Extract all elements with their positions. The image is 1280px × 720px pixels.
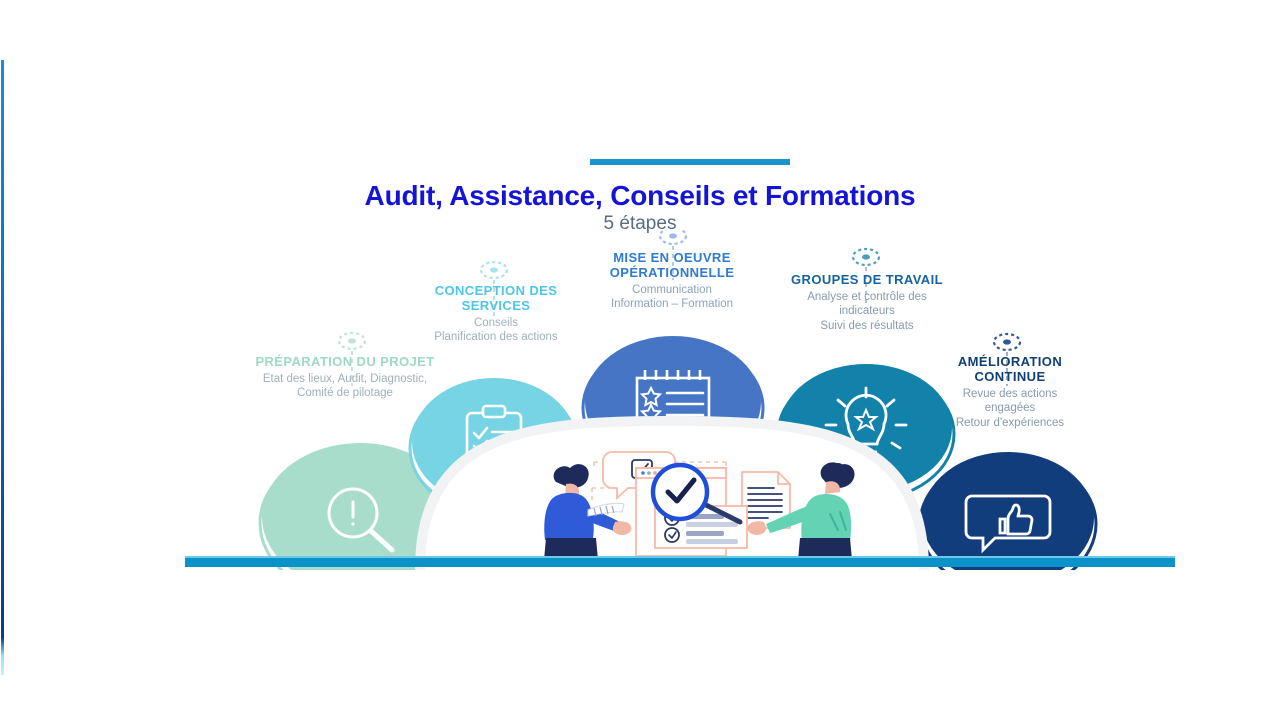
step-4-desc-line-2: indicateurs	[772, 304, 962, 318]
step-label-1: PRÉPARATION DU PROJET Etat des lieux, Au…	[255, 355, 435, 401]
step-5-desc: Revue des actions engagées Retour d'expé…	[925, 387, 1095, 430]
step-2-desc-line-2: Planification des actions	[400, 330, 592, 344]
step-5-title: AMÉLIORATION CONTINUE	[925, 355, 1095, 385]
step-3-desc: Communication Information – Formation	[572, 283, 772, 312]
step-5-desc-line-2: engagées	[925, 401, 1095, 415]
step-2-title: CONCEPTION DES SERVICES	[400, 284, 592, 314]
left-edge-accent-stripe-tail	[1, 655, 4, 675]
step-label-2: CONCEPTION DES SERVICES Conseils Planifi…	[400, 284, 592, 345]
page-title: Audit, Assistance, Conseils et Formation…	[0, 180, 1280, 212]
step-4-desc-line-1: Analyse et contrôle des	[772, 290, 962, 304]
title-underline-rule	[590, 159, 790, 165]
step-1-desc: Etat des lieux, Audit, Diagnostic, Comit…	[255, 372, 435, 401]
step-label-5: AMÉLIORATION CONTINUE Revue des actions …	[925, 355, 1095, 430]
step-5-desc-line-3: Retour d'expériences	[925, 416, 1095, 430]
step-4-desc: Analyse et contrôle des indicateurs Suiv…	[772, 290, 962, 333]
step-2-desc: Conseils Planification des actions	[400, 316, 592, 345]
step-4-title: GROUPES DE TRAVAIL	[772, 273, 962, 288]
step-label-4: GROUPES DE TRAVAIL Analyse et contrôle d…	[772, 273, 962, 333]
step-5-shape	[920, 450, 1096, 570]
step-1-title: PRÉPARATION DU PROJET	[255, 355, 435, 370]
step-3-desc-line-2: Information – Formation	[572, 297, 772, 311]
step-5-desc-line-1: Revue des actions	[925, 387, 1095, 401]
step-3-desc-line-1: Communication	[572, 283, 772, 297]
step-3-title: MISE EN OEUVRE OPÉRATIONNELLE	[572, 251, 772, 281]
step-label-3: MISE EN OEUVRE OPÉRATIONNELLE Communicat…	[572, 251, 772, 312]
step-2-desc-line-1: Conseils	[400, 316, 592, 330]
step-4-desc-line-3: Suivi des résultats	[772, 319, 962, 333]
bottom-accent-bar	[185, 558, 1175, 567]
